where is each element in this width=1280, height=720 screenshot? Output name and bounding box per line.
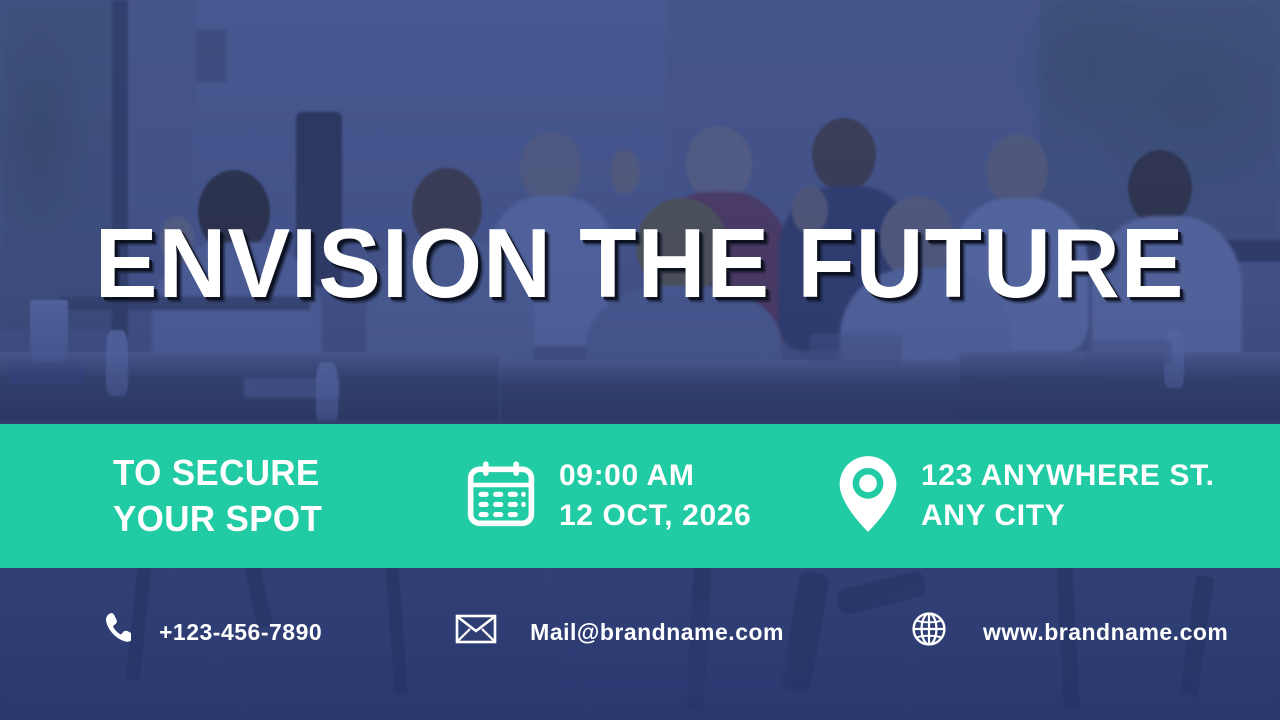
location-text: 123 ANYWHERE ST. ANY CITY — [921, 456, 1215, 535]
map-pin-icon — [837, 455, 899, 538]
website-url: www.brandname.com — [983, 619, 1228, 646]
contact-email[interactable]: Mail@brandname.com — [455, 613, 784, 651]
globe-icon — [911, 611, 947, 653]
info-band: TO SECURE YOUR SPOT — [0, 424, 1280, 568]
cta-line-1: TO SECURE — [113, 450, 322, 496]
contact-phone[interactable]: +123-456-7890 — [101, 612, 322, 652]
phone-number: +123-456-7890 — [159, 619, 322, 646]
cta-text: TO SECURE YOUR SPOT — [113, 450, 322, 542]
poster-title: ENVISION THE FUTURE — [95, 214, 1185, 312]
event-poster: ENVISION THE FUTURE TO SECURE YOUR SPOT — [0, 0, 1280, 720]
envelope-icon — [455, 613, 497, 651]
calendar-icon — [465, 458, 537, 535]
location-block: 123 ANYWHERE ST. ANY CITY — [837, 455, 1215, 538]
phone-icon — [101, 612, 131, 652]
cta-block: TO SECURE YOUR SPOT — [113, 450, 413, 542]
location-street: 123 ANYWHERE ST. — [921, 456, 1215, 496]
cta-line-2: YOUR SPOT — [113, 496, 322, 542]
title-container: ENVISION THE FUTURE — [0, 214, 1280, 312]
location-city: ANY CITY — [921, 496, 1215, 536]
email-address: Mail@brandname.com — [530, 619, 784, 646]
datetime-block: 09:00 AM 12 OCT, 2026 — [465, 456, 810, 535]
event-time: 09:00 AM — [559, 456, 751, 496]
contact-website[interactable]: www.brandname.com — [911, 611, 1228, 653]
contact-bar: +123-456-7890 Mail@brandname.com — [0, 568, 1280, 720]
event-date: 12 OCT, 2026 — [559, 496, 751, 536]
datetime-text: 09:00 AM 12 OCT, 2026 — [559, 456, 751, 535]
